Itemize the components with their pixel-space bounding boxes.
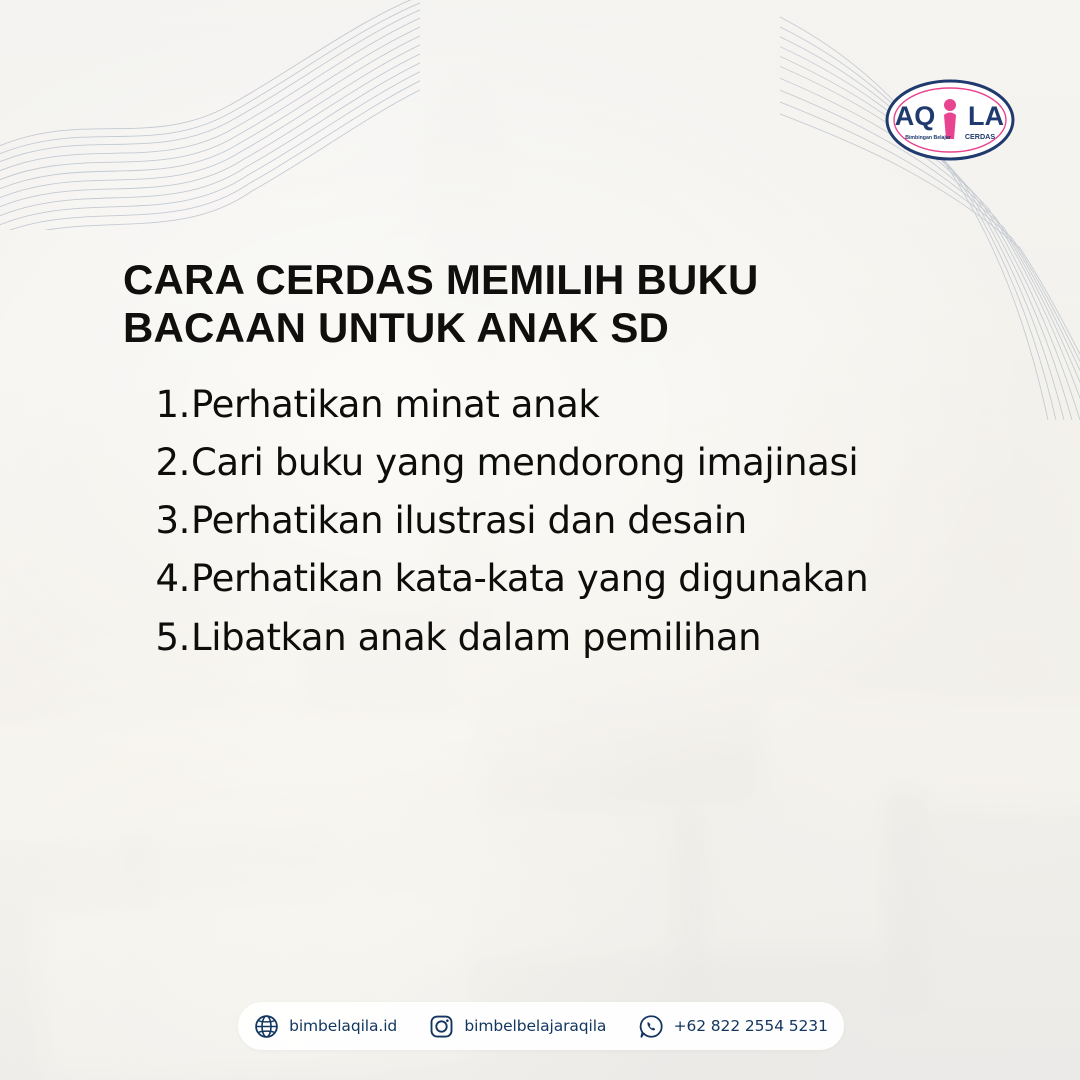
logo-tagline-right: CERDAS [965, 132, 996, 141]
list-item-label: Perhatikan ilustrasi dan desain [191, 498, 1006, 543]
globe-icon [254, 1014, 279, 1039]
list-item: 5. Libatkan anak dalam pemilihan [146, 615, 1006, 660]
aqila-logo: AQ LA Bimbingan Belajar CERDAS [885, 79, 1015, 161]
page-title-line-2: BACAAN UNTUK ANAK SD [123, 304, 903, 352]
logo-text-aq: AQ [895, 101, 936, 131]
list-item-label: Libatkan anak dalam pemilihan [191, 615, 1006, 660]
logo-figure-head [944, 99, 956, 111]
instagram-icon [429, 1014, 454, 1039]
logo-tagline-left: Bimbingan Belajar [905, 135, 951, 141]
instagram-label: bimbelbelajaraqila [464, 1017, 606, 1035]
list-item-number: 4. [146, 556, 191, 601]
list-item: 4. Perhatikan kata-kata yang digunakan [146, 556, 1006, 601]
page-title-line-1: CARA CERDAS MEMILIH BUKU [123, 256, 903, 304]
contact-website[interactable]: bimbelaqila.id [254, 1014, 397, 1039]
poster-canvas: AQ LA Bimbingan Belajar CERDAS CARA CERD… [0, 0, 1080, 1080]
aqila-logo-svg: AQ LA Bimbingan Belajar CERDAS [885, 79, 1015, 161]
list-item: 3. Perhatikan ilustrasi dan desain [146, 498, 1006, 543]
page-title: CARA CERDAS MEMILIH BUKU BACAAN UNTUK AN… [123, 256, 903, 352]
contact-footer-bar: bimbelaqila.id bimbelbelajaraqila +62 82… [238, 1002, 844, 1050]
list-item-number: 5. [146, 615, 191, 660]
list-item-label: Cari buku yang mendorong imajinasi [191, 440, 1006, 485]
list-item-number: 2. [146, 440, 191, 485]
list-item-label: Perhatikan minat anak [191, 382, 1006, 427]
whatsapp-icon [639, 1014, 664, 1039]
website-label: bimbelaqila.id [289, 1017, 397, 1035]
logo-text-la: LA [968, 101, 1004, 131]
tips-list: 1. Perhatikan minat anak 2. Cari buku ya… [146, 382, 1006, 673]
contact-whatsapp[interactable]: +62 822 2554 5231 [639, 1014, 828, 1039]
list-item: 2. Cari buku yang mendorong imajinasi [146, 440, 1006, 485]
list-item-number: 3. [146, 498, 191, 543]
list-item-label: Perhatikan kata-kata yang digunakan [191, 556, 1006, 601]
contact-instagram[interactable]: bimbelbelajaraqila [429, 1014, 606, 1039]
whatsapp-label: +62 822 2554 5231 [674, 1017, 828, 1035]
list-item: 1. Perhatikan minat anak [146, 382, 1006, 427]
list-item-number: 1. [146, 382, 191, 427]
